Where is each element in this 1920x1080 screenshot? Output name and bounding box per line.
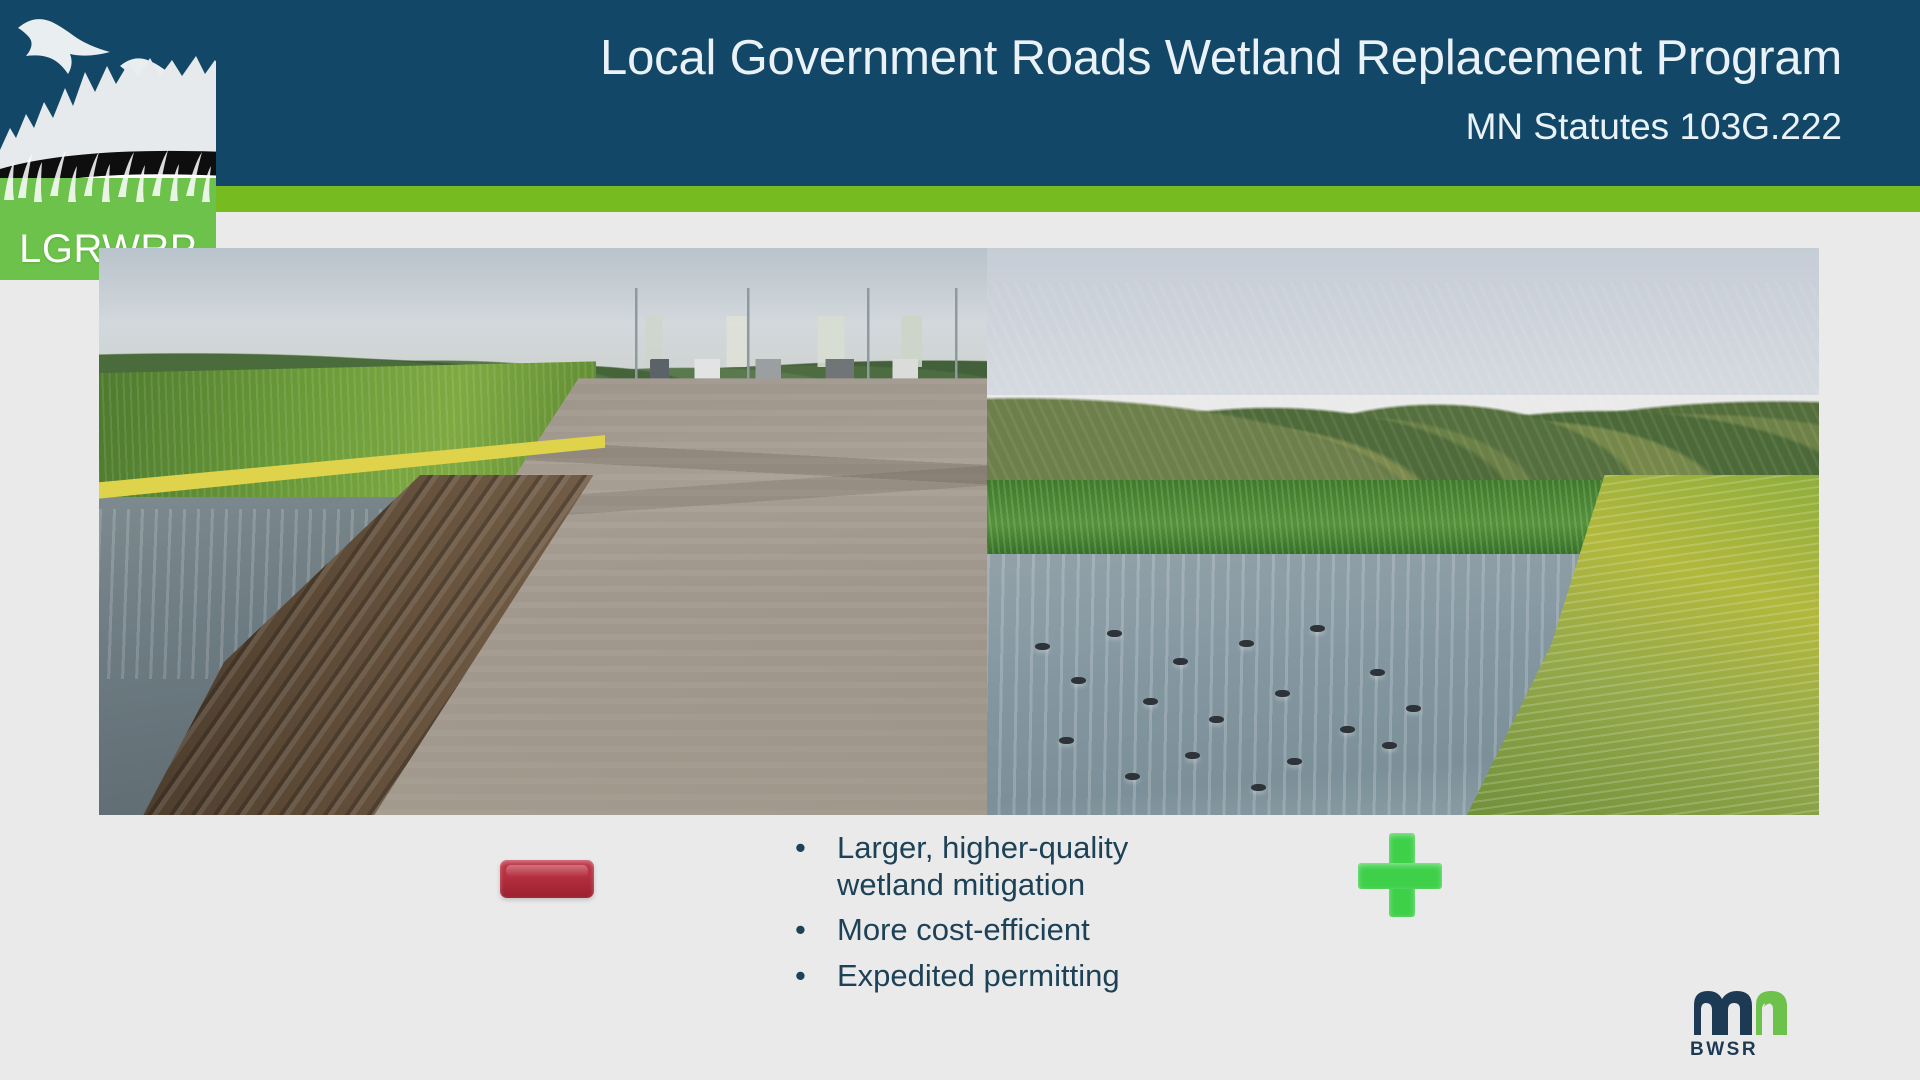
list-item: • More cost-efficient xyxy=(795,912,1225,949)
mn-mark-icon xyxy=(1690,985,1800,1037)
bwsr-logo-label: BWSR xyxy=(1690,1039,1810,1061)
road-construction-photo xyxy=(99,248,987,815)
photo-treeline-texture xyxy=(987,282,1819,509)
bullet-marker-icon: • xyxy=(795,912,837,949)
plus-icon-horizontal-bar xyxy=(1358,863,1442,889)
page-subtitle: MN Statutes 103G.222 xyxy=(1466,106,1842,148)
list-item-label: More cost-efficient xyxy=(837,912,1225,949)
list-item-label: Larger, higher-quality wetland mitigatio… xyxy=(837,830,1225,903)
list-item: • Larger, higher-quality wetland mitigat… xyxy=(795,830,1225,903)
page-title: Local Government Roads Wetland Replaceme… xyxy=(600,30,1842,86)
bullet-marker-icon: • xyxy=(795,958,837,995)
list-item: • Expedited permitting xyxy=(795,958,1225,995)
restored-wetland-photo xyxy=(987,248,1819,815)
benefits-list: • Larger, higher-quality wetland mitigat… xyxy=(795,830,1225,1003)
minus-icon xyxy=(500,860,594,898)
plus-icon xyxy=(1358,833,1442,917)
lgrwrp-logo: LGRWRP xyxy=(0,0,216,280)
photo-waterfowl-group xyxy=(987,554,1586,815)
bullet-marker-icon: • xyxy=(795,830,837,867)
slide-header: Local Government Roads Wetland Replaceme… xyxy=(0,0,1920,186)
photo-comparison-row xyxy=(99,248,1819,815)
bwsr-logo: BWSR xyxy=(1690,985,1810,1067)
list-item-label: Expedited permitting xyxy=(837,958,1225,995)
header-accent-bar xyxy=(0,186,1920,212)
